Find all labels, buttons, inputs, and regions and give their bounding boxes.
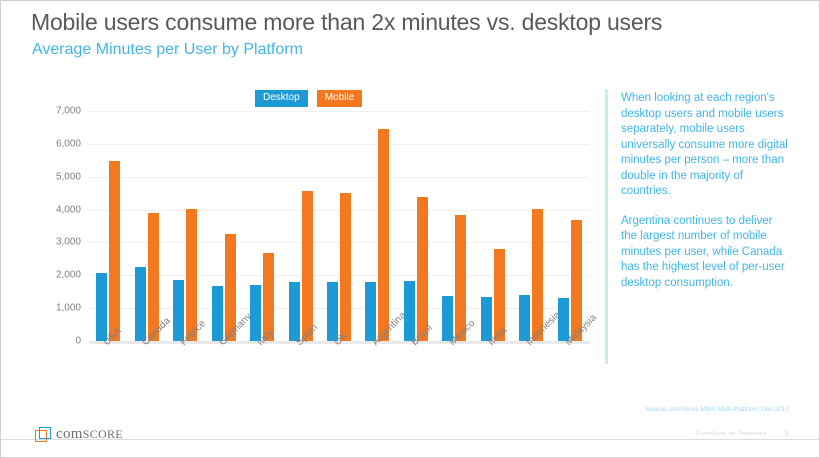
- logo-com: com: [56, 426, 83, 442]
- slide-canvas: Mobile users consume more than 2x minute…: [0, 0, 820, 458]
- bar-desktop[interactable]: [250, 285, 261, 341]
- y-axis-tick-label: 0: [75, 336, 81, 347]
- bar-desktop[interactable]: [212, 286, 223, 341]
- bar-mobile[interactable]: [378, 129, 389, 341]
- y-axis-tick-label: 3,000: [56, 237, 81, 248]
- bar-desktop[interactable]: [289, 282, 300, 341]
- bar-desktop[interactable]: [96, 273, 107, 341]
- bar-desktop[interactable]: [365, 282, 376, 341]
- page-subtitle: Average Minutes per User by Platform: [32, 41, 303, 59]
- copyright-notice: © comScore, Inc. Proprietary.: [695, 431, 767, 437]
- bar-desktop[interactable]: [173, 280, 184, 341]
- y-axis-tick-label: 5,000: [56, 171, 81, 182]
- insight-paragraph-2: Argentina continues to deliver the large…: [621, 214, 789, 292]
- bar-mobile[interactable]: [340, 193, 351, 342]
- bar-group: [435, 111, 473, 341]
- footer-divider: [1, 439, 819, 440]
- bar-desktop[interactable]: [135, 267, 146, 341]
- page-title: Mobile users consume more than 2x minute…: [31, 9, 662, 36]
- comscore-logo: comSCORE: [35, 426, 123, 443]
- bar-group: [127, 111, 165, 341]
- bar-group: [243, 111, 281, 341]
- panel-divider: [605, 89, 608, 364]
- y-axis-tick-label: 6,000: [56, 138, 81, 149]
- y-axis: 01,0002,0003,0004,0005,0006,0007,000: [26, 111, 81, 341]
- bar-group: [204, 111, 242, 341]
- bar-mobile[interactable]: [302, 191, 313, 341]
- grouped-bar-chart: 01,0002,0003,0004,0005,0006,0007,000 USA…: [26, 111, 591, 346]
- bar-group: [358, 111, 396, 341]
- bar-group: [551, 111, 589, 341]
- y-axis-tick-label: 4,000: [56, 204, 81, 215]
- bar-group: [89, 111, 127, 341]
- y-axis-tick-label: 1,000: [56, 303, 81, 314]
- insight-paragraph-1: When looking at each region's desktop us…: [621, 91, 789, 200]
- chart-legend: Desktop Mobile: [255, 90, 362, 107]
- plot-area: USACanadaFranceGermanyItalySpainUKArgent…: [89, 111, 589, 344]
- bar-group: [474, 111, 512, 341]
- bar-desktop[interactable]: [327, 282, 338, 341]
- bar-group: [320, 111, 358, 341]
- logo-wordmark: comSCORE: [56, 426, 123, 443]
- source-note: Source: comScore MMX Multi-Platform, Dec…: [645, 406, 789, 413]
- bar-mobile[interactable]: [417, 197, 428, 341]
- y-axis-tick-label: 7,000: [56, 106, 81, 117]
- bar-group: [281, 111, 319, 341]
- bar-group: [166, 111, 204, 341]
- bar-group: [512, 111, 550, 341]
- insight-panel: When looking at each region's desktop us…: [621, 91, 789, 305]
- bar-desktop[interactable]: [404, 281, 415, 341]
- legend-item-desktop[interactable]: Desktop: [255, 90, 308, 107]
- bar-mobile[interactable]: [109, 161, 120, 341]
- y-axis-tick-label: 2,000: [56, 270, 81, 281]
- page-number: 5: [785, 429, 789, 438]
- bar-group: [397, 111, 435, 341]
- logo-score: SCORE: [83, 427, 123, 441]
- legend-item-mobile[interactable]: Mobile: [317, 90, 362, 107]
- comscore-squares-icon: [35, 427, 50, 442]
